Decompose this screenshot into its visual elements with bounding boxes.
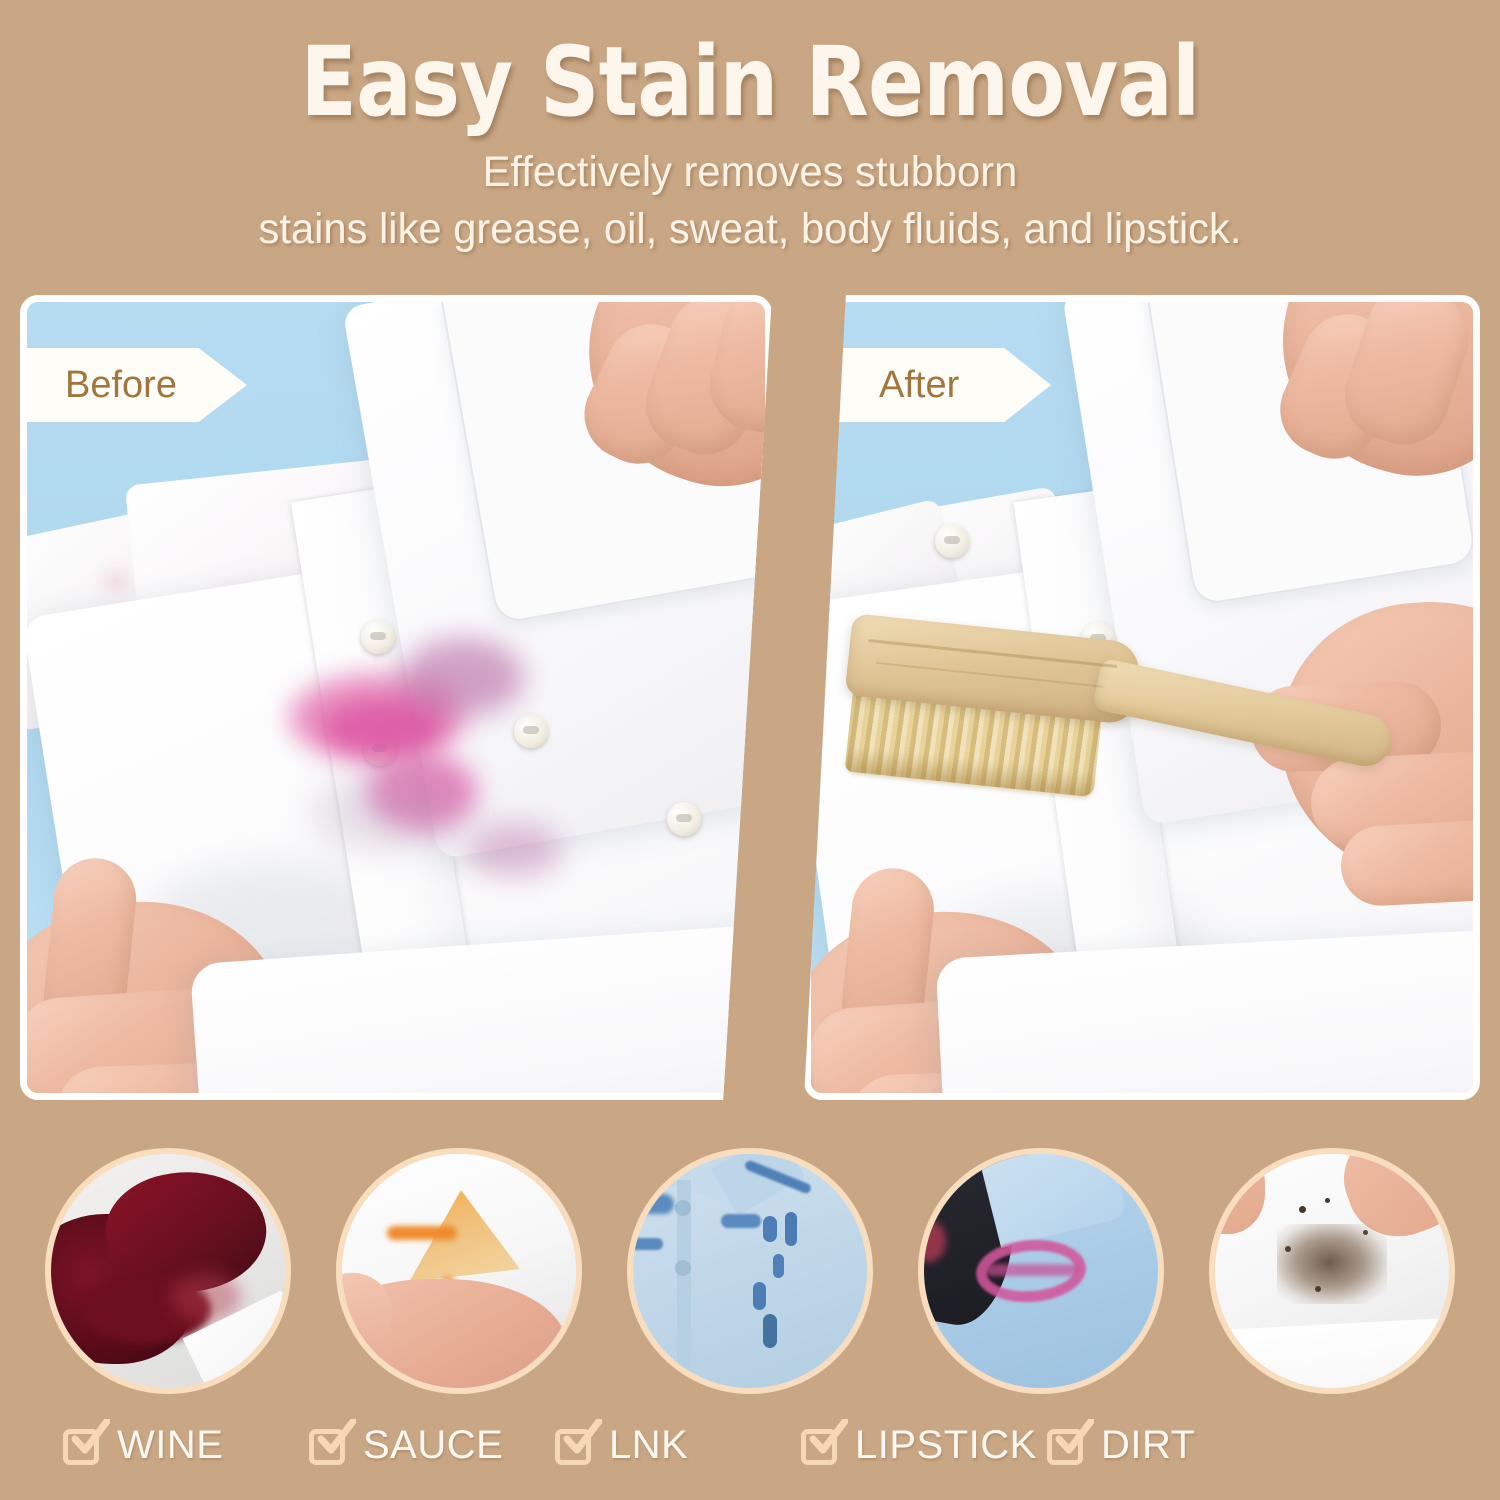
page-title: Easy Stain Removal [105,0,1395,130]
thumbnail-ink[interactable] [627,1148,873,1394]
subtitle-line-2: stains like grease, oil, sweat, body flu… [23,201,1478,258]
shirt-button [667,802,701,836]
check-label-lipstick: LIPSTICK [855,1423,1037,1468]
wine-stain-photo [51,1154,285,1388]
ink-stain-photo [633,1154,867,1388]
dirt-speck [1285,1246,1291,1252]
ink-splatter [763,1216,777,1242]
thumbnail-wine[interactable] [45,1148,291,1394]
shirt-button [514,714,548,748]
check-label-wine: WINE [117,1423,223,1468]
after-label-text: After [879,364,959,407]
check-box-icon [555,1425,595,1465]
shirt-collar [975,1154,1128,1248]
before-panel: Before [20,295,772,1100]
check-box-icon [801,1425,841,1465]
check-label-dirt: DIRT [1101,1423,1196,1468]
before-after-comparison: Before [20,295,1480,1100]
check-box-icon [63,1425,103,1465]
thumbnail-dirt[interactable] [1209,1148,1455,1394]
check-item-lipstick: LIPSTICK [783,1400,1029,1490]
lipstick-stain [323,700,443,756]
ink-splatter [763,1314,777,1348]
stain-type-thumbnails [0,1148,1500,1396]
check-box-icon [1047,1425,1087,1465]
after-panel: After [804,295,1480,1100]
lipstick-stain [402,638,524,716]
check-item-dirt: DIRT [1029,1400,1275,1490]
faint-stain [311,772,461,852]
shirt-button [675,1260,691,1276]
shirt-button [675,1200,691,1216]
small-stain [105,574,127,590]
lipstick-stain [467,822,562,878]
ink-splatter [721,1214,761,1228]
fabric-fold [1215,1317,1449,1388]
dirt-speck [1315,1286,1321,1292]
ink-splatter [773,1254,784,1278]
ink-splatter [753,1282,766,1310]
lipstick-lip-line [986,1264,1078,1276]
check-item-sauce: SAUCE [291,1400,537,1490]
ink-splatter [785,1212,797,1246]
ink-splatter [633,1194,674,1214]
subtitle-line-1: Effectively removes stubborn [23,144,1478,201]
thumbnail-lipstick[interactable] [918,1148,1164,1394]
dirt-speck [1363,1230,1368,1235]
stain-type-labels: WINE SAUCE LNK LIPSTICK [0,1400,1500,1490]
dirt-speck [1325,1198,1330,1203]
dirt-speck [1299,1206,1306,1213]
subtitle: Effectively removes stubborn stains like… [23,130,1478,258]
dirt-stain [1277,1224,1387,1304]
check-item-wine: WINE [45,1400,291,1490]
shirt-button [361,620,395,654]
check-label-ink: LNK [609,1423,688,1468]
sauce-stain-photo [342,1154,576,1388]
check-item-ink: LNK [537,1400,783,1490]
lipstick-stain-photo [924,1154,1158,1388]
sauce-streak [387,1226,457,1240]
header: Easy Stain Removal Effectively removes s… [0,0,1500,282]
thumbnail-sauce[interactable] [336,1148,582,1394]
check-label-sauce: SAUCE [363,1423,503,1468]
dirt-stain-photo [1215,1154,1449,1388]
check-box-icon [309,1425,349,1465]
ink-splatter [633,1238,663,1250]
brush-handle [1092,658,1396,771]
shirt-button [935,524,969,558]
before-label-text: Before [65,364,177,407]
